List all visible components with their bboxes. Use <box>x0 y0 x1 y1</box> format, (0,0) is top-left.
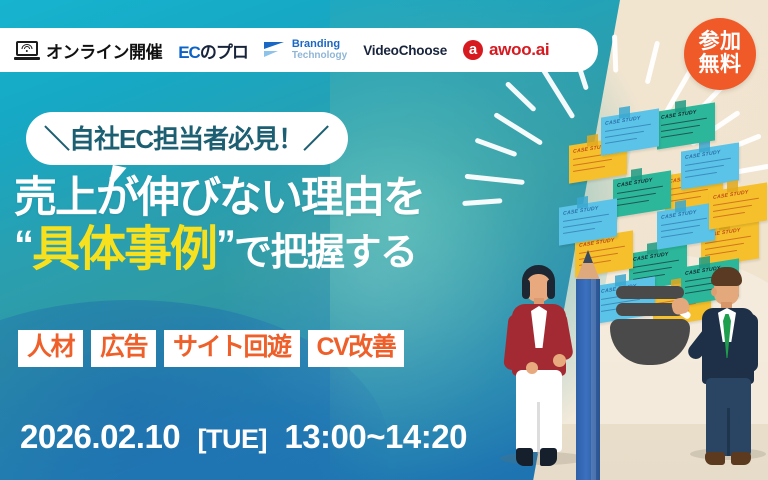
headline-line2: “具体事例”で把握する <box>14 225 424 275</box>
headline-line2-rest: で把握する <box>234 232 417 274</box>
light-ray <box>474 137 517 157</box>
branding-line2: Technology <box>292 51 347 61</box>
speech-bubble-text: ＼自社EC担当者必見！／ <box>44 119 328 156</box>
light-ray <box>645 41 660 85</box>
note-text-line <box>605 138 637 144</box>
ecpro-label-puro: のプロ <box>200 43 248 62</box>
topic-tag: サイト回遊 <box>164 330 300 367</box>
headline-quote-close: ” <box>216 223 234 267</box>
man-presenting <box>688 262 768 480</box>
topic-tag-row: 人材広告サイト回遊CV改善 <box>18 330 404 367</box>
topic-tag: CV改善 <box>308 330 405 367</box>
note-text-line <box>661 232 693 238</box>
speech-bubble: ＼自社EC担当者必見！／ <box>26 112 348 165</box>
event-day: [TUE] <box>198 424 267 454</box>
online-event-label: オンライン開催 <box>46 38 162 63</box>
video-choose-label: VideoChoose <box>363 43 447 58</box>
note-text-line <box>705 243 744 251</box>
note-text-line <box>661 225 700 233</box>
logo-awoo-ai: a awoo.ai <box>463 40 549 60</box>
case-study-note: CASE STUDY <box>601 108 659 155</box>
headline-quote-open: “ <box>14 223 32 267</box>
free-participation-badge: 参加 無料 <box>684 18 756 90</box>
note-text-line <box>713 212 745 218</box>
light-ray <box>493 112 543 146</box>
light-ray <box>612 35 618 73</box>
logo-branding-technology: Branding Technology <box>264 39 347 60</box>
branding-line1: Branding <box>292 39 347 50</box>
woman-with-pencil <box>496 262 588 480</box>
note-text-line <box>563 228 595 234</box>
giant-blue-pencil <box>576 250 600 480</box>
note-text-line <box>605 131 644 139</box>
note-text-line <box>685 165 724 173</box>
note-text-line <box>633 267 672 275</box>
branding-arrow-icon <box>264 41 286 59</box>
headline-line1: 売上が伸びない理由を <box>14 176 424 221</box>
light-ray <box>465 174 525 185</box>
free-badge-line1: 参加 <box>699 31 742 54</box>
free-badge-line2: 無料 <box>699 54 742 77</box>
logo-ec-no-puro: ECのプロ <box>178 38 248 63</box>
logo-video-choose: VideoChoose <box>363 43 447 58</box>
ecpro-label-ec: EC <box>178 43 200 62</box>
logo-online-event: オンライン開催 <box>14 38 162 63</box>
headline: 売上が伸びない理由を “具体事例”で把握する <box>14 176 424 275</box>
note-text-line <box>617 193 656 201</box>
light-ray <box>505 81 537 112</box>
event-datetime: 2026.02.10 [TUE] 13:00~14:20 <box>20 418 467 456</box>
awoo-mark-glyph: a <box>469 42 477 57</box>
note-text-line <box>573 159 612 167</box>
awoo-label: awoo.ai <box>489 40 549 60</box>
note-text-line <box>685 172 717 178</box>
topic-tag: 広告 <box>91 330 156 367</box>
note-text-line <box>713 205 752 213</box>
headline-highlight: 具体事例 <box>32 223 216 276</box>
note-text-line <box>617 200 649 206</box>
note-text-line <box>563 221 602 229</box>
partner-logo-bar: オンライン開催 ECのプロ Branding Technology VideoC… <box>0 28 598 72</box>
topic-tag: 人材 <box>18 330 83 367</box>
webinar-banner: CASE STUDYCASE STUDYCASE STUDYCASE STUDY… <box>0 0 768 480</box>
note-text-line <box>661 125 700 133</box>
note-text-line <box>661 132 693 138</box>
laptop-wifi-icon <box>14 41 40 60</box>
event-time: 13:00~14:20 <box>284 418 467 455</box>
note-text-line <box>573 166 605 172</box>
event-date: 2026.02.10 <box>20 418 180 455</box>
awoo-mark-icon: a <box>463 40 483 60</box>
note-text-line <box>669 189 708 197</box>
